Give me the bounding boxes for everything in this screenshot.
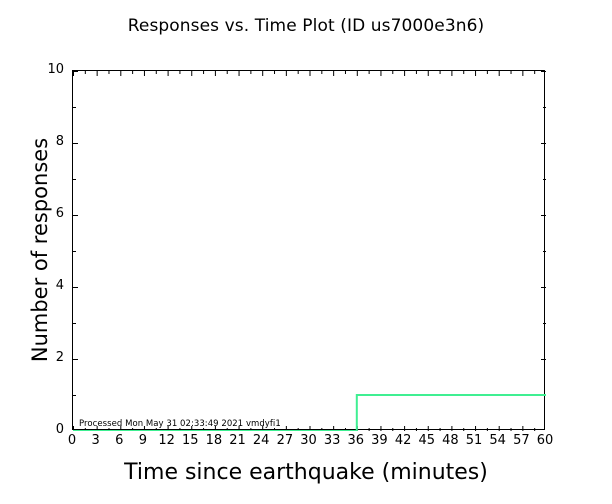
y-axis-label: Number of responses [28, 70, 52, 430]
chart-figure: Responses vs. Time Plot (ID us7000e3n6) … [0, 0, 612, 504]
y-axis-label-container: Number of responses [0, 70, 40, 430]
x-axis-label: Time since earthquake (minutes) [0, 460, 612, 485]
axis-ticks [73, 71, 546, 431]
y-tick-label: 0 [36, 423, 64, 437]
y-tick-label: 8 [36, 135, 64, 149]
chart-title: Responses vs. Time Plot (ID us7000e3n6) [0, 16, 612, 36]
y-tick-label: 6 [36, 207, 64, 221]
y-tick-label: 4 [36, 279, 64, 293]
x-tick-label: 60 [530, 433, 560, 448]
y-tick-label: 10 [36, 63, 64, 77]
plot-canvas [73, 71, 546, 431]
processing-annotation: Processed Mon May 31 02:33:49 2021 vmdyf… [79, 419, 281, 429]
y-tick-label: 2 [36, 351, 64, 365]
plot-area [72, 70, 545, 430]
